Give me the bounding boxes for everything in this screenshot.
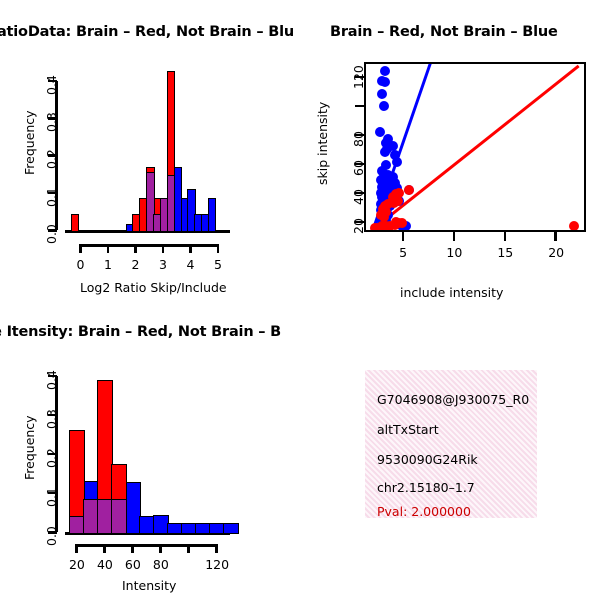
intensity_hist-ytick-label: 0.4 [44,370,59,390]
intensity_hist-ytick-label: 0.3 [44,409,59,429]
ratio_hist-bar [71,214,79,232]
scatter-point [380,77,390,87]
figure-page: RatioData: Brain – Red, Not Brain – Blu … [0,0,600,600]
scatter-clip [364,62,586,232]
ratio_hist-ytick-label: 0.3 [44,112,59,132]
scatter-xtick [453,232,456,241]
intensity_hist-bar [111,499,127,534]
intensity-histogram-xlabel: Intensity [122,578,176,593]
scatter-ylabel: skip intensity [315,102,330,185]
ratio_hist-xtick-label: 5 [214,257,222,272]
ratio_hist-xtick-label: 2 [132,257,140,272]
scatter-point [392,157,402,167]
intensity_hist-xtick [131,544,134,553]
gene-info-box: G7046908@J930075_R0 altTxStart 9530090G2… [365,370,537,518]
scatter-ytick-label: 20 [351,218,366,234]
info-line-locus: chr2.15180–1.7 [377,480,475,495]
scatter-xtick-label: 15 [497,245,513,260]
ratio_hist-xtick-label: 3 [159,257,167,272]
scatter-ytick-label: 120 [351,65,366,89]
intensity_hist-xtick [187,544,190,553]
intensity-histogram-title: ne Itensity: Brain – Red, Not Brain – B [0,324,281,340]
intensity-histogram-ylabel: Frequency [22,415,37,480]
scatter-xtick-label: 20 [548,245,564,260]
scatter-ytick-label: 40 [351,189,366,205]
intensity_hist-xtick-label: 60 [125,557,141,572]
scatter-xlabel: include intensity [400,285,503,300]
info-line-pval: Pval: 2.000000 [377,504,471,519]
scatter-title: Brain – Red, Not Brain – Blue [330,24,558,40]
ratio_hist-bar [208,198,216,231]
intensity_hist-bar [223,523,239,533]
ratio_hist-xtick-label: 0 [77,257,85,272]
ratio_hist-xtick [189,244,192,253]
ratio-histogram-xlabel: Log2 Ratio Skip/Include [80,280,227,295]
scatter-point [569,221,579,231]
ratio_hist-ytick-label: 0.0 [44,224,59,244]
ratio_hist-ytick-label: 0.2 [44,149,59,169]
intensity_hist-xtick-label: 40 [97,557,113,572]
ratio-histogram-title: RatioData: Brain – Red, Not Brain – Blu [0,24,294,40]
scatter-xtick [504,232,507,241]
intensity_hist-ytick-label: 0.2 [44,448,59,468]
intensity_hist-xtick-label: 20 [69,557,85,572]
scatter-ytick-label: 80 [351,131,366,147]
scatter-point [380,147,390,157]
scatter-xtick-label: 10 [446,245,462,260]
ratio_hist-xaxis [80,244,218,247]
ratio_hist-xtick-label: 1 [104,257,112,272]
ratio_hist-xtick-label: 4 [187,257,195,272]
scatter-xtick-label: 5 [399,245,407,260]
ratio_hist-ytick-label: 0.1 [44,187,59,207]
scatter-ytick-label: 60 [351,160,366,176]
info-line-gene-symbol: 9530090G24Rik [377,452,478,467]
scatter-xtick [554,232,557,241]
intensity_hist-xtick-label: 80 [153,557,169,572]
scatter-point [380,66,390,76]
intensity_hist-ytick-label: 0.1 [44,487,59,507]
intensity_hist-xtick [215,544,218,553]
scatter-ytick [355,105,364,108]
intensity_hist-xtick [103,544,106,553]
intensity_hist-xaxis [76,544,216,547]
ratio_hist-xtick [79,244,82,253]
intensity_hist-xtick [75,544,78,553]
ratio_hist-xtick [107,244,110,253]
ratio_hist-ytick-label: 0.4 [44,75,59,95]
ratio_hist-xtick [217,244,220,253]
intensity_hist-xtick-label: 120 [205,557,229,572]
scatter-point [379,101,389,111]
info-line-event-type: altTxStart [377,422,439,437]
ratio-histogram-ylabel: Frequency [22,110,37,175]
ratio_hist-xtick [162,244,165,253]
info-line-probe: G7046908@J930075_R0 [377,392,539,407]
scatter-point [377,89,387,99]
intensity_hist-ytick-label: 0.0 [44,526,59,546]
scatter-point [404,185,414,195]
scatter-xtick [402,232,405,241]
ratio_hist-bar [167,175,175,232]
ratio_hist-xtick [134,244,137,253]
scatter-point [370,223,380,232]
intensity_hist-xtick [159,544,162,553]
